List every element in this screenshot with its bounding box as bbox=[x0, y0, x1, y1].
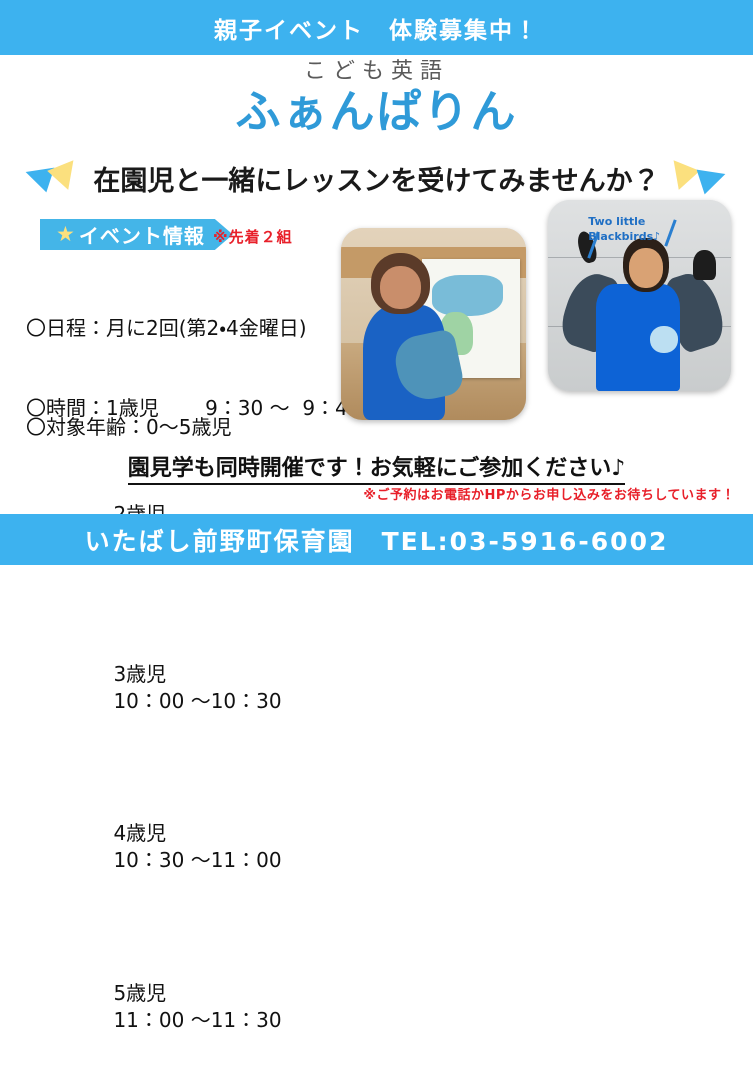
blue-triangle-icon bbox=[696, 162, 729, 195]
photo-teacher-with-puppets: Two little Blackbirds♪ bbox=[548, 200, 731, 391]
schedule-age: 3歳児 bbox=[113, 662, 166, 686]
photo-caption: Two little Blackbirds♪ bbox=[588, 215, 698, 245]
cta-text: 園見学も同時開催です！お気軽にご参加ください♪ bbox=[128, 456, 626, 485]
photo-teacher-with-map bbox=[341, 228, 526, 420]
footer-banner: いたばし前野町保育園 TEL:03-5916-6002 bbox=[0, 514, 753, 565]
target-age-line: 〇対象年齢：0～5歳児 bbox=[26, 411, 231, 440]
event-info-banner: ★ イベント情報 bbox=[40, 219, 233, 250]
cta-note: ※ご予約はお電話かHPからお申し込みをお待ちしています！ bbox=[0, 484, 753, 503]
event-info-label: イベント情報 bbox=[79, 220, 205, 249]
triangle-arrows-left-icon bbox=[17, 155, 79, 201]
schedule-time-row: 5歳児 11：00 ～11：30 bbox=[26, 953, 361, 1059]
photo-person-face bbox=[380, 266, 421, 308]
triangle-arrows-right-icon bbox=[674, 155, 736, 201]
cta-line: 園見学も同時開催です！お気軽にご参加ください♪ bbox=[0, 450, 753, 482]
schedule-time: 10：00 ～10：30 bbox=[113, 689, 281, 713]
photo-logo-badge bbox=[650, 326, 677, 353]
schedule-age: 4歳児 bbox=[113, 821, 166, 845]
blackbird-puppet-icon bbox=[693, 250, 717, 281]
footer-contact: いたばし前野町保育園 TEL:03-5916-6002 bbox=[85, 522, 669, 558]
star-icon: ★ bbox=[56, 224, 76, 245]
subheading-row: 在園児と一緒にレッスンを受けてみませんか？ bbox=[0, 152, 753, 204]
photo-person-face bbox=[629, 248, 664, 288]
top-banner: 親子イベント 体験募集中！ bbox=[0, 0, 753, 55]
logo: こども英語 ふぁんぱりん bbox=[0, 60, 753, 138]
logo-title-wrap: ふぁんぱりん bbox=[235, 86, 517, 138]
schedule-block: 〇日程：月に2回(第2・4金曜日) 〇時間：1歳児 9：30 ～ 9：45 2歳… bbox=[26, 262, 361, 1086]
schedule-time-row: 3歳児 10：00 ～10：30 bbox=[26, 634, 361, 740]
subheading-text: 在園児と一緒にレッスンを受けてみませんか？ bbox=[79, 159, 673, 198]
flyer-page: { "colors": { "brand_blue": "#3db2ef", "… bbox=[0, 0, 753, 565]
logo-title: ふぁんぱりん bbox=[235, 85, 517, 138]
schedule-date-line: 〇日程：月に2回(第2・4金曜日) bbox=[26, 315, 361, 342]
capacity-limit-note: ※先着２組 bbox=[213, 226, 293, 247]
schedule-time: 10：30 ～11：00 bbox=[113, 848, 281, 872]
schedule-age: 5歳児 bbox=[113, 981, 166, 1005]
yellow-triangle-icon bbox=[45, 156, 74, 190]
logo-subtitle: こども英語 bbox=[0, 60, 753, 84]
schedule-time-row: 4歳児 10：30 ～11：00 bbox=[26, 794, 361, 900]
schedule-time: 11：00 ～11：30 bbox=[113, 1008, 281, 1032]
top-banner-title: 親子イベント 体験募集中！ bbox=[214, 11, 539, 45]
